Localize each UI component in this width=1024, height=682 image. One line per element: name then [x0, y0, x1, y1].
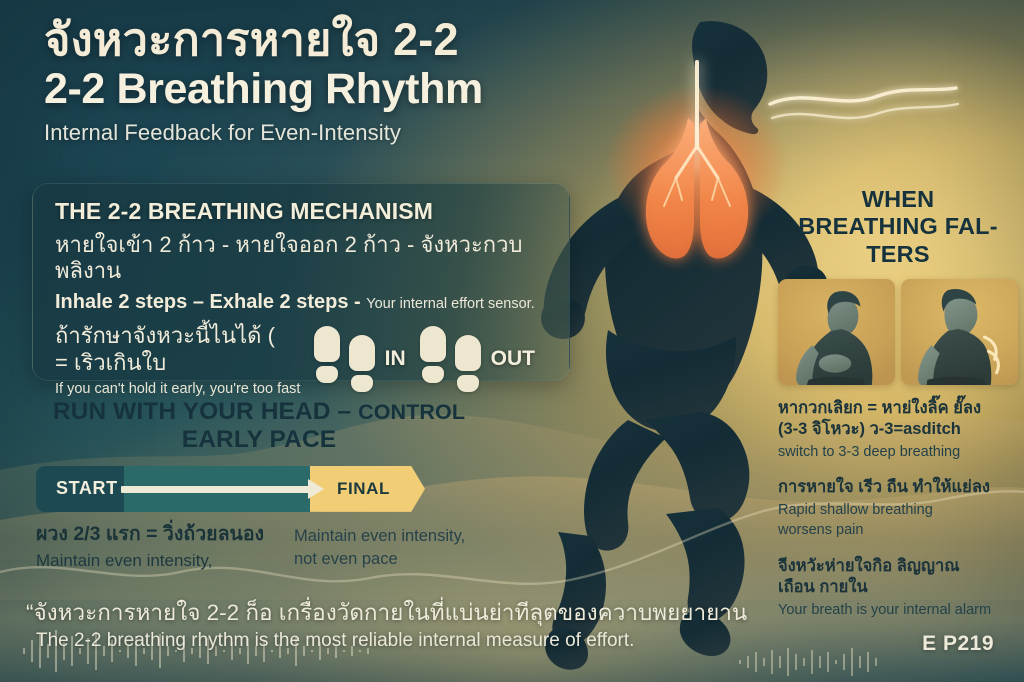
pace-heading: RUN WITH YOUR HEAD – CONTROL EARLY PACE — [36, 398, 482, 454]
pace-heading-line2: EARLY PACE — [182, 426, 336, 453]
step-label-out: OUT — [491, 347, 535, 371]
audio-waveform-bars — [740, 648, 876, 676]
mechanism-heading: THE 2-2 BREATHING MECHANISM — [55, 198, 549, 225]
pace-left-english: Maintain even intensity, — [36, 550, 294, 571]
mechanism-thai-line: หายใจเข้า 2 ก้าว - หายใจออก 2 ก้าว - จัง… — [55, 232, 549, 285]
footer-quote: “จังหวะการหายใจ 2-2 ก็อ เกรื่องวัดกายในท… — [26, 599, 766, 652]
episode-badge: E P219 — [922, 632, 994, 656]
photo-runner-deep-breath — [901, 279, 1018, 385]
pace-left-thai: ผวง 2/3 แรก = วิ่งถ้วยลนอง — [36, 523, 294, 546]
footprint-pair-in — [314, 326, 375, 392]
falters-heading: WHEN BREATHING FAL- TERS — [778, 186, 1018, 268]
footer-quote-english: The 2-2 breathing rhythm is the most rel… — [26, 630, 766, 652]
falters-item-2-english-2: worsens pain — [778, 521, 1018, 540]
mechanism-warning-thai-1: ถ้ารักษาจังหวะนี้ไนได้ ( — [55, 322, 314, 349]
falters-item-3-thai-2: เถือน กายใน — [778, 577, 1018, 598]
falters-item-2-thai-1: การหายใจ เรีว ถืน ทำให้แย่ลง — [778, 477, 1018, 498]
pace-caption-row: ผวง 2/3 แรก = วิ่งถ้วยลนอง Maintain even… — [36, 523, 482, 572]
page-title-thai: จังหวะการหายใจ 2-2 — [44, 16, 664, 65]
falters-item-2-english-1: Rapid shallow breathing — [778, 501, 1018, 520]
pace-heading-small: CONTROL — [358, 400, 465, 424]
pace-start-label: START — [56, 478, 118, 499]
falters-item-3: จีงหวัะห่ายใจกิอ ลิญญาณ เถือน กายใน Your… — [778, 556, 1018, 619]
poster-header: จังหวะการหายใจ 2-2 2-2 Breathing Rhythm … — [44, 16, 664, 146]
step-label-in: IN — [385, 347, 406, 371]
footprint-icon — [420, 326, 446, 392]
footprint-icon — [455, 335, 481, 392]
mechanism-lower-row: ถ้ารักษาจังหวะนี้ไนได้ ( = เริวเกินใบ If… — [55, 322, 549, 398]
falters-photo-pair — [778, 279, 1018, 385]
page-title-english: 2-2 Breathing Rhythm — [44, 66, 664, 113]
falters-item-3-english: Your breath is your internal alarm — [778, 601, 1018, 620]
pace-progress-bar[interactable]: START FINAL — [36, 466, 482, 512]
falters-item-3-thai-1: จีงหวัะห่ายใจกิอ ลิญญาณ — [778, 556, 1018, 577]
mechanism-english-line: Inhale 2 steps – Exhale 2 steps - Your i… — [55, 291, 549, 314]
falters-heading-line1: WHEN — [862, 186, 935, 212]
falters-item-1: หากวกเลิยก = หาย่ใงลิ๊ค ยั๊ลง (3-3 จิโหว… — [778, 398, 1018, 461]
mechanism-english-thin: Your internal effort sensor. — [366, 296, 534, 312]
mechanism-warning-text: ถ้ารักษาจังหวะนี้ไนได้ ( = เริวเกินใบ If… — [55, 322, 314, 398]
pace-arrow-head-icon — [308, 479, 324, 499]
infographic-poster: จังหวะการหายใจ 2-2 2-2 Breathing Rhythm … — [0, 0, 1024, 682]
pace-caption-right: Maintain even intensity, not even pace — [294, 523, 482, 572]
footprint-icon — [314, 326, 340, 392]
falters-item-1-english: switch to 3-3 deep breathing — [778, 443, 1018, 462]
pace-right-english-1: Maintain even intensity, — [294, 525, 482, 548]
footer-quote-thai: “จังหวะการหายใจ 2-2 ก็อ เกรื่องวัดกายในท… — [26, 599, 766, 626]
pace-section: RUN WITH YOUR HEAD – CONTROL EARLY PACE … — [36, 398, 482, 571]
falters-heading-line2: BREATHING FAL- — [798, 213, 998, 239]
breathing-falters-section: WHEN BREATHING FAL- TERS — [778, 186, 1018, 619]
falters-item-1-thai-1: หากวกเลิยก = หาย่ใงลิ๊ค ยั๊ลง — [778, 398, 1018, 419]
footprint-diagram: IN OUT — [314, 326, 549, 392]
pace-arrow-shaft — [121, 486, 313, 493]
photo-runner-side-stitch — [778, 279, 895, 385]
pace-caption-left: ผวง 2/3 แรก = วิ่งถ้วยลนอง Maintain even… — [36, 523, 294, 572]
pace-right-english-2: not even pace — [294, 548, 482, 571]
footprint-icon — [349, 335, 375, 392]
falters-item-1-thai-2: (3-3 จิโหวะ) ว-3=asditch — [778, 419, 1018, 440]
pace-final-label: FINAL — [337, 479, 390, 499]
falters-item-2: การหายใจ เรีว ถืน ทำให้แย่ลง Rapid shall… — [778, 477, 1018, 540]
pace-heading-main: RUN WITH YOUR HEAD – — [53, 398, 351, 425]
mechanism-english-bold: Inhale 2 steps – Exhale 2 steps - — [55, 291, 361, 313]
falters-heading-line3: TERS — [866, 241, 929, 267]
footprint-pair-out — [420, 326, 481, 392]
mechanism-warning-english: If you can't hold it early, you're too f… — [55, 381, 314, 397]
page-subtitle: Internal Feedback for Even-Intensity — [44, 120, 664, 146]
mechanism-warning-thai-2: = เริวเกินใบ — [55, 349, 314, 376]
mechanism-panel: THE 2-2 BREATHING MECHANISM หายใจเข้า 2 … — [32, 183, 570, 381]
